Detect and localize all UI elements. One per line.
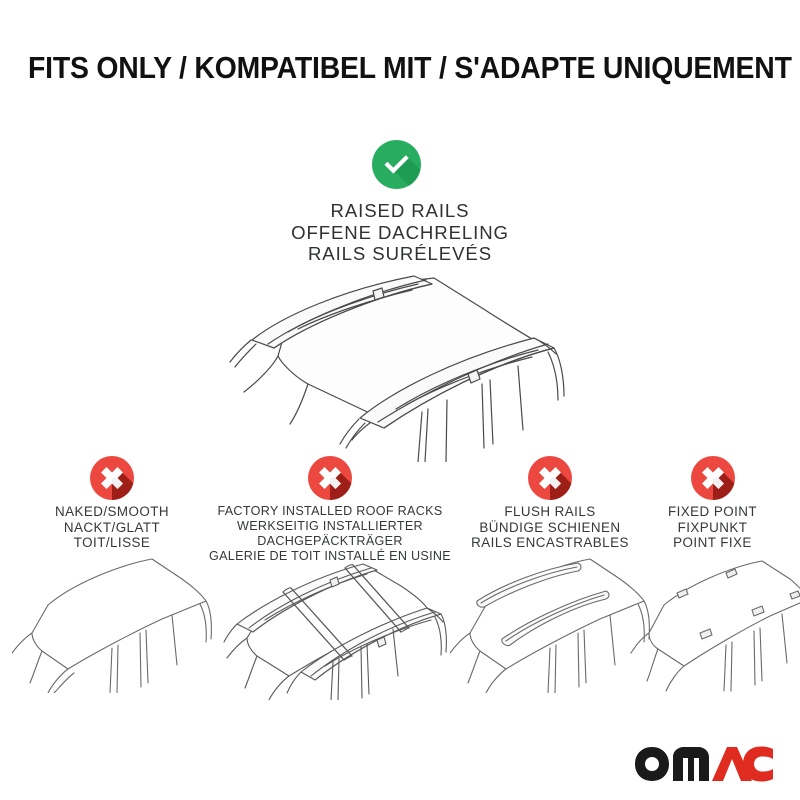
incompatible-section: NAKED/SMOOTH NACKT/GLATT TOIT/LISSE — [0, 450, 800, 710]
red-x-circle-icon — [90, 456, 134, 500]
label-line: FLUSH RAILS — [450, 504, 650, 520]
car-roof-with-flush-rails-illustration — [450, 553, 650, 693]
compatible-label-line-3: RAILS SURÉLEVÉS — [0, 243, 800, 265]
omac-logo — [634, 746, 774, 782]
label-line: RAILS ENCASTRABLES — [450, 535, 650, 551]
compatible-section: RAISED RAILS OFFENE DACHRELING RAILS SUR… — [0, 0, 800, 460]
car-roof-bare-illustration — [12, 553, 212, 693]
incompatible-label-fixed-point: FIXED POINT FIXPUNKT POINT FIXE — [630, 504, 795, 551]
red-x-circle-icon — [308, 456, 352, 500]
green-check-circle-icon — [372, 140, 421, 189]
compatible-label-line-1: RAISED RAILS — [0, 200, 800, 222]
label-line: TOIT/LISSE — [12, 535, 212, 551]
label-line: BÜNDIGE SCHIENEN — [450, 520, 650, 536]
red-x-circle-icon — [691, 456, 735, 500]
label-line: FACTORY INSTALLED ROOF RACKS — [205, 504, 455, 519]
car-roof-with-crossbars-illustration — [205, 550, 455, 700]
label-line: FIXED POINT — [630, 504, 795, 520]
label-line: POINT FIXE — [630, 535, 795, 551]
car-roof-with-raised-rails-illustration — [182, 272, 632, 462]
car-roof-with-fixed-points-illustration — [630, 553, 795, 693]
label-line: DACHGEPÄCKTRÄGER — [205, 534, 455, 549]
incompatible-label-naked-smooth: NAKED/SMOOTH NACKT/GLATT TOIT/LISSE — [12, 504, 212, 551]
red-x-circle-icon — [528, 456, 572, 500]
fitment-infographic: FITS ONLY / KOMPATIBEL MIT / S'ADAPTE UN… — [0, 0, 800, 800]
compatible-label-line-2: OFFENE DACHRELING — [0, 222, 800, 244]
label-line: WERKSEITIG INSTALLIERTER — [205, 519, 455, 534]
label-line: FIXPUNKT — [630, 520, 795, 536]
label-line: NAKED/SMOOTH — [12, 504, 212, 520]
incompatible-label-flush-rails: FLUSH RAILS BÜNDIGE SCHIENEN RAILS ENCAS… — [450, 504, 650, 551]
compatible-label: RAISED RAILS OFFENE DACHRELING RAILS SUR… — [0, 200, 800, 265]
label-line: NACKT/GLATT — [12, 520, 212, 536]
